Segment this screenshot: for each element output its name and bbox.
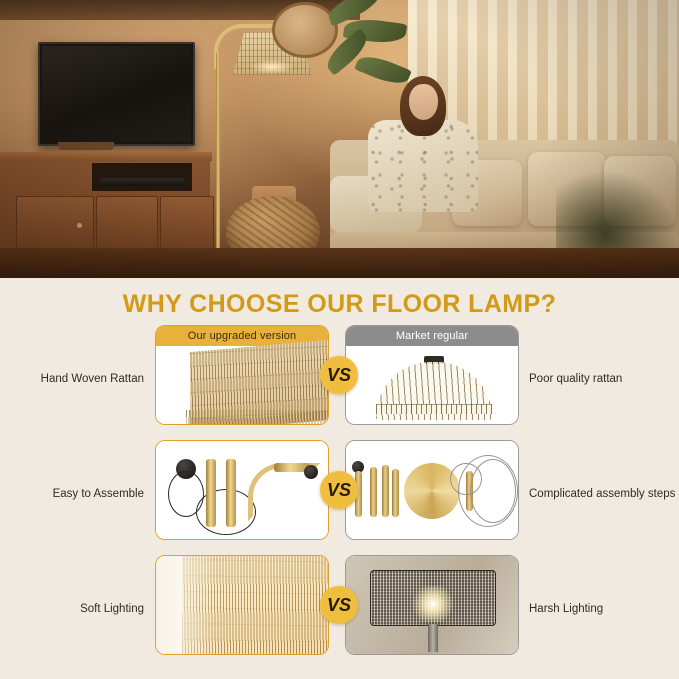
pole-segment (206, 459, 216, 527)
console-door-middle (96, 196, 158, 256)
comparison-rows: Hand Woven Rattan Our upgraded version V… (0, 325, 679, 670)
comparison-section: WHY CHOOSE OUR FLOOR LAMP? Hand Woven Ra… (0, 278, 679, 679)
ours-image-easy-assembly-parts (156, 441, 328, 540)
market-image-harsh-lighting (346, 556, 518, 655)
comparison-row: Hand Woven Rattan Our upgraded version V… (0, 325, 679, 432)
row-label-right: Poor quality rattan (521, 325, 679, 432)
market-panel (345, 555, 519, 655)
vs-badge: VS (320, 356, 358, 394)
door-knob-icon (77, 223, 82, 228)
market-column-header: Market regular (346, 326, 518, 346)
row-label-left: Soft Lighting (0, 555, 152, 662)
market-image-poor-rattan (346, 346, 518, 425)
tv-screen (42, 46, 191, 142)
console-door-left (16, 196, 94, 256)
section-title: WHY CHOOSE OUR FLOOR LAMP? (0, 290, 679, 319)
rod-part (370, 467, 377, 517)
vs-badge: VS (320, 586, 358, 624)
row-label-left: Hand Woven Rattan (0, 325, 152, 432)
product-comparison-infographic: WHY CHOOSE OUR FLOOR LAMP? Hand Woven Ra… (0, 0, 679, 679)
ours-image-soft-lighting (156, 556, 328, 655)
wire-ring (458, 455, 518, 527)
console-niche (92, 163, 192, 191)
rod-part (392, 469, 399, 517)
row-label-left: Easy to Assemble (0, 440, 152, 547)
pole-segment (226, 459, 236, 527)
market-panel: Market regular (345, 325, 519, 425)
lamp-light-glow (250, 60, 294, 74)
woman-face (409, 84, 438, 120)
floor (0, 248, 679, 278)
console-top-surface (0, 152, 212, 161)
lamp-stem (428, 624, 438, 652)
market-image-complicated-parts (346, 441, 518, 540)
ours-panel (155, 555, 329, 655)
soft-light-falloff (156, 556, 216, 655)
television (38, 42, 195, 146)
hero-lifestyle-photo (0, 0, 679, 278)
ours-panel (155, 440, 329, 540)
tv-stand (58, 142, 114, 150)
ours-image-hand-woven-rattan (156, 346, 328, 425)
row-label-right: Complicated assembly steps (521, 440, 679, 547)
console-door-right (160, 196, 214, 256)
media-device (100, 178, 184, 186)
vs-badge: VS (320, 471, 358, 509)
lamp-pole (216, 52, 220, 270)
row-label-right: Harsh Lighting (521, 555, 679, 662)
market-panel (345, 440, 519, 540)
rattan-fringe (186, 410, 329, 425)
harsh-bulb-glare (410, 586, 456, 622)
socket-fitting (304, 465, 318, 479)
comparison-row: Soft Lighting VS Harsh (0, 555, 679, 662)
ours-panel: Our upgraded version (155, 325, 329, 425)
dome-lower-band (376, 404, 492, 414)
comparison-row: Easy to Assemble VS (0, 440, 679, 547)
leaf (354, 51, 412, 90)
rod-part (382, 465, 389, 517)
